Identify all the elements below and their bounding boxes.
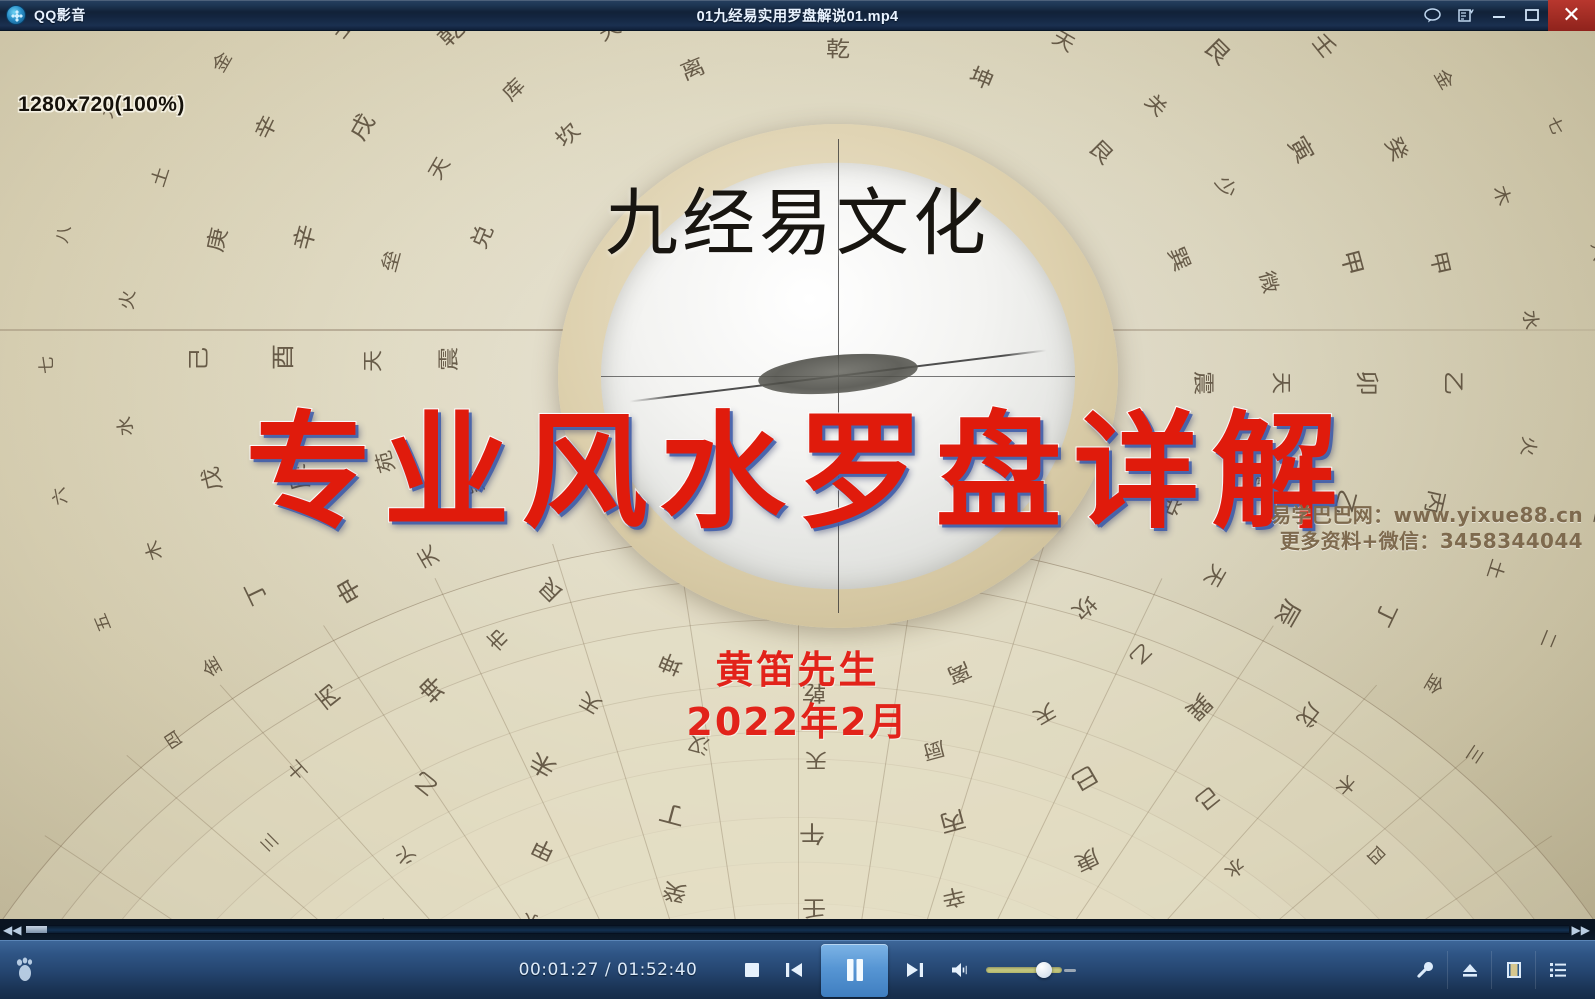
screen-icon xyxy=(1504,960,1524,980)
seek-bar[interactable] xyxy=(26,925,1568,934)
qq-player-window: QQ影音 01九经易实用罗盘解说01.mp4 xyxy=(0,0,1595,999)
seek-bar-fill xyxy=(26,926,46,933)
video-heading-text: 九经易文化 xyxy=(0,164,1595,270)
rewind-icon[interactable]: ◀◀ xyxy=(0,924,26,936)
pause-button[interactable] xyxy=(821,944,888,997)
compass-spoke xyxy=(798,755,1470,919)
compass-spoke xyxy=(126,755,798,919)
control-bar-right xyxy=(1265,951,1595,989)
speech-bubble-icon xyxy=(1424,8,1441,23)
volume-control[interactable] xyxy=(950,961,1076,979)
playlist-button[interactable] xyxy=(1535,951,1579,989)
snapshot-button[interactable] xyxy=(1449,0,1482,31)
stop-icon xyxy=(743,961,761,979)
stop-button[interactable] xyxy=(731,949,773,991)
window-title: 01九经易实用罗盘解说01.mp4 xyxy=(0,5,1595,26)
feedback-button[interactable] xyxy=(1416,0,1449,31)
next-button[interactable] xyxy=(894,949,936,991)
minimize-icon xyxy=(1491,9,1507,21)
minimize-button[interactable] xyxy=(1482,0,1515,31)
playlist-icon xyxy=(1548,961,1568,979)
pause-icon xyxy=(843,957,867,983)
watermark-site: 易学巴巴网：www.yixue88.cn xyxy=(1271,499,1583,528)
fast-forward-icon[interactable]: ▶▶ xyxy=(1569,924,1595,936)
compass-spoke xyxy=(798,835,1552,919)
video-surface[interactable]: 子癸丑艮寅甲卯乙辰巽巳丙午丁未坤申庚酉辛戌乾亥壬天汉天关少微天魁天乙天厨天汉天市… xyxy=(0,31,1595,919)
previous-track-icon xyxy=(784,961,804,979)
volume-slider[interactable] xyxy=(986,967,1062,973)
previous-button[interactable] xyxy=(773,949,815,991)
progress-bar-strip[interactable]: ◀◀ ▶▶ xyxy=(0,919,1595,940)
next-track-icon xyxy=(905,961,925,979)
compass-spoke xyxy=(44,835,798,919)
app-name-label: QQ影音 xyxy=(34,5,86,25)
window-controls: ✕ xyxy=(1416,0,1595,31)
maximize-icon xyxy=(1524,8,1540,22)
volume-icon[interactable] xyxy=(950,961,972,979)
video-author-text: 黄笛先生 xyxy=(0,639,1595,694)
eject-icon xyxy=(1460,961,1480,979)
title-bar: QQ影音 01九经易实用罗盘解说01.mp4 xyxy=(0,0,1595,31)
time-display: 00:01:27 / 01:52:40 xyxy=(519,960,698,980)
playback-controls: 00:01:27 / 01:52:40 xyxy=(330,944,1265,997)
eject-button[interactable] xyxy=(1447,951,1491,989)
qq-player-logo-icon xyxy=(6,5,26,25)
aspect-button[interactable] xyxy=(1491,951,1535,989)
video-date-text: 2022年2月 xyxy=(0,691,1595,746)
wrench-icon xyxy=(1415,960,1435,980)
settings-button[interactable] xyxy=(1403,951,1447,989)
resolution-badge: 1280x720(100%) xyxy=(18,93,185,117)
watermark-wechat: 更多资料+微信：3458344044 xyxy=(1280,525,1583,554)
taskbar-sliver xyxy=(0,978,240,999)
volume-slider-knob[interactable] xyxy=(1036,962,1052,978)
maximize-button[interactable] xyxy=(1515,0,1548,31)
screenshot-icon xyxy=(1458,8,1474,23)
volume-slider-tail xyxy=(1064,969,1076,972)
close-button[interactable]: ✕ xyxy=(1548,0,1595,31)
